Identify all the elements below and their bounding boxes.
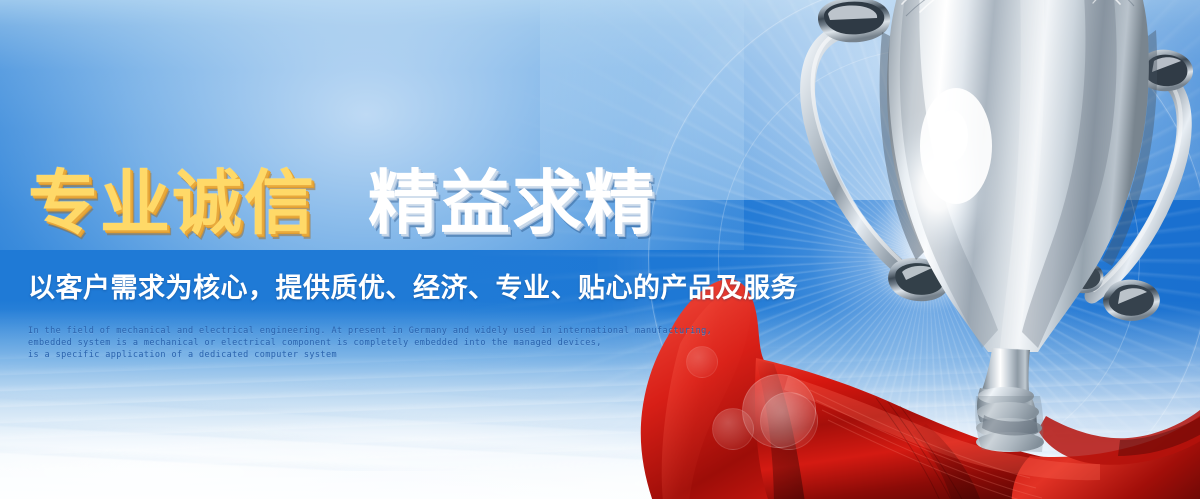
subtitle: 以客户需求为核心，提供质优、经济、专业、贴心的产品及服务 [28,266,688,305]
description-line-2: embedded system is a mechanical or elect… [28,337,688,349]
headline: 专业诚信 精益求精 [28,168,688,238]
description-paragraph: In the field of mechanical and electrica… [28,325,688,361]
headline-gold-text: 专业诚信 [28,168,316,238]
description-line-1: In the field of mechanical and electrica… [28,325,688,337]
promo-banner: 专业诚信 精益求精 以客户需求为核心，提供质优、经济、专业、贴心的产品及服务 I… [0,0,1200,499]
bokeh-circle [686,346,718,378]
headline-white-text: 精益求精 [368,168,656,238]
description-line-3: is a specific application of a dedicated… [28,349,688,361]
trophy-cup [770,0,1200,460]
banner-text-block: 专业诚信 精益求精 以客户需求为核心，提供质优、经济、专业、贴心的产品及服务 I… [28,168,688,361]
bokeh-circle [712,408,754,450]
